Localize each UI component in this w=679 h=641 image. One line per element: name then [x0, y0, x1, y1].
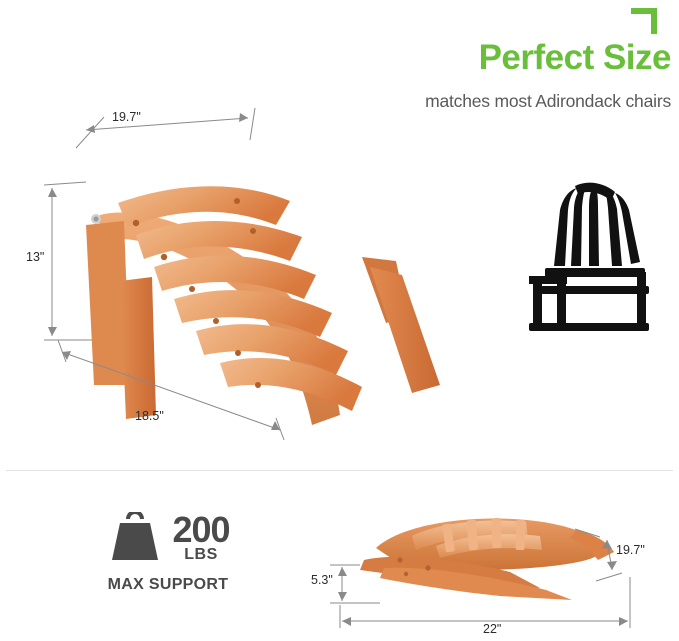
dimension-height-left: 13"	[26, 250, 44, 264]
dimension-lines-folded	[300, 485, 679, 641]
product-infographic: Perfect Size matches most Adirondack cha…	[0, 0, 679, 641]
dimension-side-folded: 19.7"	[616, 543, 645, 557]
section-divider	[6, 470, 673, 471]
max-support-caption: MAX SUPPORT	[78, 576, 258, 594]
weight-value: 200	[172, 513, 229, 547]
corner-bracket-icon	[631, 8, 657, 34]
dimension-height-folded: 5.3"	[311, 573, 333, 587]
adirondack-chair-icon	[505, 180, 655, 340]
weight-block-icon	[106, 512, 164, 564]
dimension-lines-main	[0, 0, 460, 470]
dimension-width-folded: 22"	[483, 622, 501, 636]
dimension-width-top: 19.7"	[112, 110, 141, 124]
dimension-depth-bottom: 18.5"	[135, 409, 164, 423]
max-support-block: 200 LBS MAX SUPPORT	[78, 512, 258, 594]
